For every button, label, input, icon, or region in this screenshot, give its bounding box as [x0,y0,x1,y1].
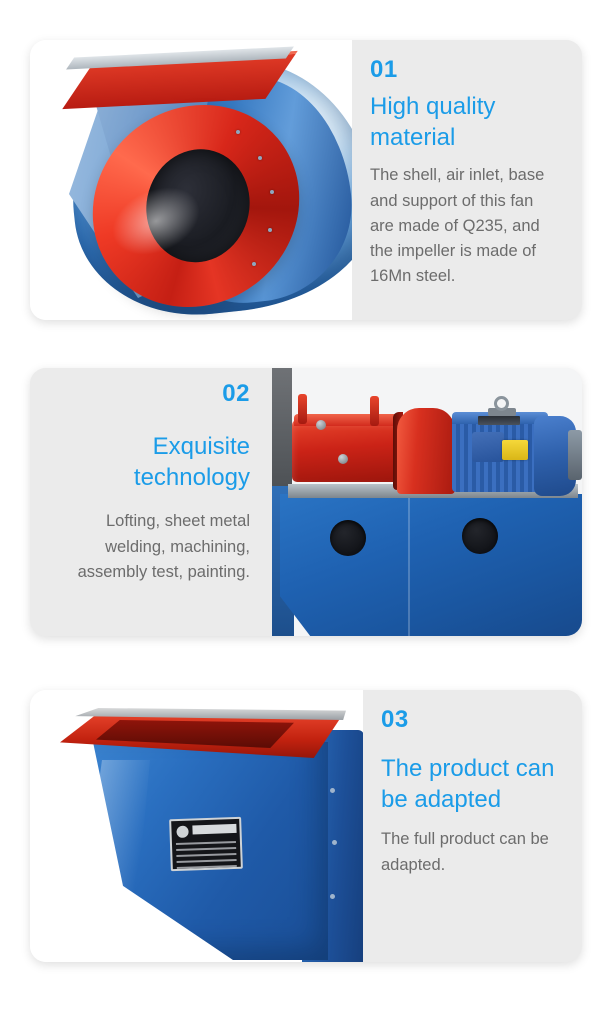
bearing-housing-top [294,414,398,426]
feature-number-01: 01 [370,58,560,82]
casing-bolt [332,840,337,845]
belt-guard-red [397,408,455,494]
feature-cards-page: 01 High quality material The shell, air … [0,0,612,1024]
inlet-box-highlight [90,760,150,930]
nameplate-title-bar [192,824,236,835]
feature-number-02: 02 [46,382,250,406]
background-wall [272,368,292,493]
lifting-eye-bolt [494,396,509,411]
nameplate-row [176,847,236,851]
base-access-hole [462,518,498,554]
product-photo-centrifugal-fan [30,40,352,320]
fan-rivet [268,228,272,232]
feature-headline-03: The product can be adapted [381,754,560,815]
feature-text-01: 01 High quality material The shell, air … [352,40,582,320]
base-access-hole [330,520,366,556]
feature-text-03: 03 The product can be adapted The full p… [363,690,582,962]
fan-rivet [252,262,256,266]
feature-body-02: Lofting, sheet metal welding, machining,… [46,509,250,584]
feature-headline-02: Exquisite technology [46,432,250,493]
fan-base-blue [280,494,582,636]
casing-bolt [330,788,335,793]
product-photo-drive-assembly [272,368,582,636]
feature-body-03: The full product can be adapted. [381,827,560,877]
bearing-housing-red [292,420,400,482]
feature-headline-01: High quality material [370,92,560,153]
feature-card-01[interactable]: 01 High quality material The shell, air … [30,40,582,320]
product-photo-outlet-box [30,690,363,962]
motor-terminal-box [472,432,504,462]
nameplate-logo-icon [176,826,188,838]
base-seam-line [408,496,410,636]
feature-card-02[interactable]: 02 Exquisite technology Lofting, sheet m… [30,368,582,636]
oil-cup [370,396,379,426]
nameplate-row [177,865,237,869]
oil-cup [298,394,307,424]
motor-shaft-cap [568,430,582,480]
motor-nameplate-bar [478,416,520,425]
fan-rivet [258,156,262,160]
nameplate-row [176,853,236,857]
feature-body-01: The shell, air inlet, base and support o… [370,163,560,288]
bearing-bolt [316,420,326,430]
casing-bolt [330,894,335,899]
motor-warning-label [502,440,528,460]
feature-number-03: 03 [381,708,560,732]
feature-text-02: 02 Exquisite technology Lofting, sheet m… [30,368,272,636]
nameplate-row [177,859,237,863]
bearing-bolt [338,454,348,464]
nameplate-row [176,841,236,845]
fan-rivet [236,130,240,134]
feature-card-03[interactable]: 03 The product can be adapted The full p… [30,690,582,962]
product-nameplate [169,817,243,871]
fan-rivet [270,190,274,194]
